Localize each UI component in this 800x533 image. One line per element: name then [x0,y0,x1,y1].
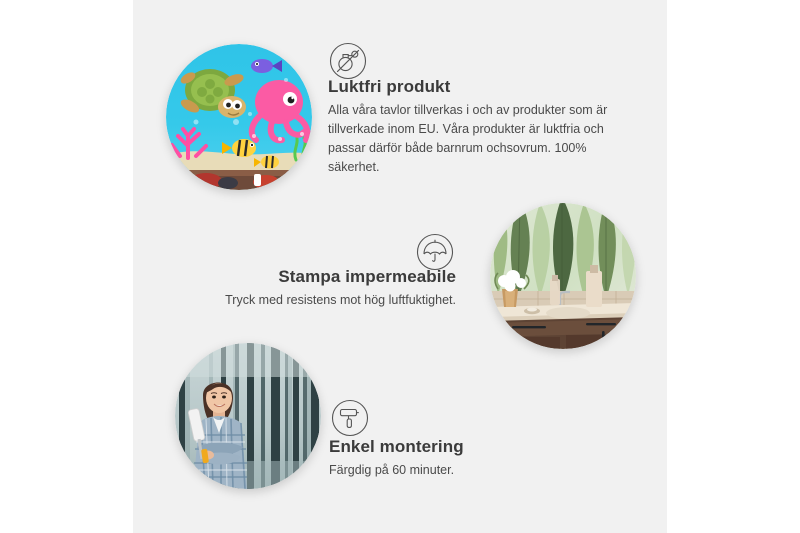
feature-description: Tryck med resistens mot hög luftfuktighe… [208,291,456,310]
feature-text-easy-installation: Enkel montering Färgdig på 60 minuter. [329,436,579,480]
photo-bathroom-tropical-wallpaper [490,203,636,349]
feature-description: Alla våra tavlor tillverkas i och av pro… [328,101,623,176]
product-benefits-infographic: Luktfri produkt Alla våra tavlor tillver… [0,0,800,533]
content-panel: Luktfri produkt Alla våra tavlor tillver… [133,0,667,533]
feature-title: Enkel montering [329,436,579,457]
photo-woman-with-paint-roller [175,343,321,489]
feature-description: Färgdig på 60 minuter. [329,461,579,480]
no-smell-spray-bottle-icon [329,42,367,80]
paint-roller-icon [331,399,369,437]
feature-text-odourless-product: Luktfri produkt Alla våra tavlor tillver… [328,76,623,176]
feature-title: Luktfri produkt [328,76,623,97]
photo-underwater-cartoon-scene [166,44,312,190]
feature-title: Stampa impermeabile [208,266,456,287]
feature-text-waterproof-print: Stampa impermeabile Tryck med resistens … [208,266,456,310]
